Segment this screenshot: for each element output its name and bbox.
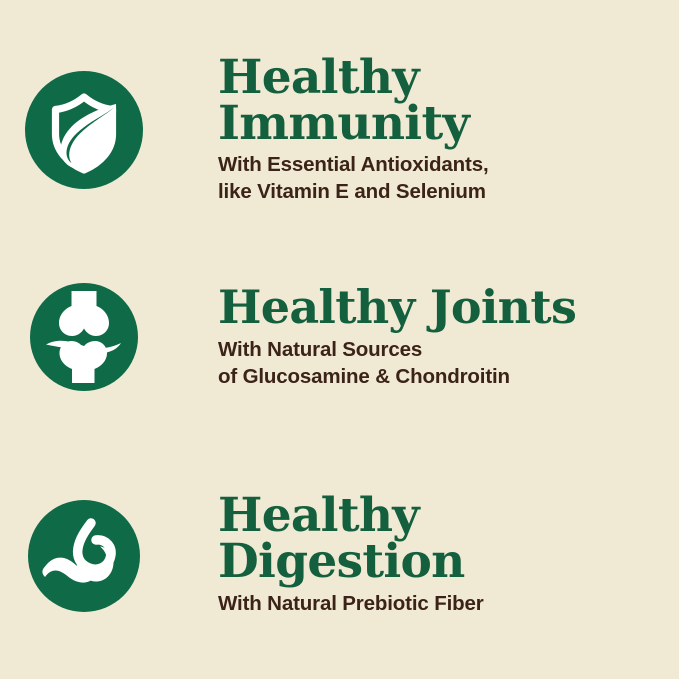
heading-line-2: Immunity [218,96,469,151]
benefit-row-digestion: HealthyDigestion With Natural Prebiotic … [0,468,679,643]
benefits-infographic: HealthyImmunity With Essential Antioxida… [0,0,679,679]
benefit-row-joints: Healthy Joints With Natural Sources of G… [0,262,679,412]
benefit-row-immunity: HealthyImmunity With Essential Antioxida… [0,30,679,230]
text-slot-immunity: HealthyImmunity With Essential Antioxida… [0,55,679,205]
text-slot-digestion: HealthyDigestion With Natural Prebiotic … [0,493,679,617]
benefit-subtext-digestion: With Natural Prebiotic Fiber [218,591,665,617]
heading-line-2: Digestion [218,534,465,589]
benefit-heading-immunity: HealthyImmunity [218,55,665,147]
text-slot-joints: Healthy Joints With Natural Sources of G… [0,284,679,389]
benefit-subtext-immunity: With Essential Antioxidants, like Vitami… [218,152,665,204]
benefit-heading-digestion: HealthyDigestion [218,493,665,585]
benefit-heading-joints: Healthy Joints [218,284,665,330]
benefit-subtext-joints: With Natural Sources of Glucosamine & Ch… [218,337,665,389]
